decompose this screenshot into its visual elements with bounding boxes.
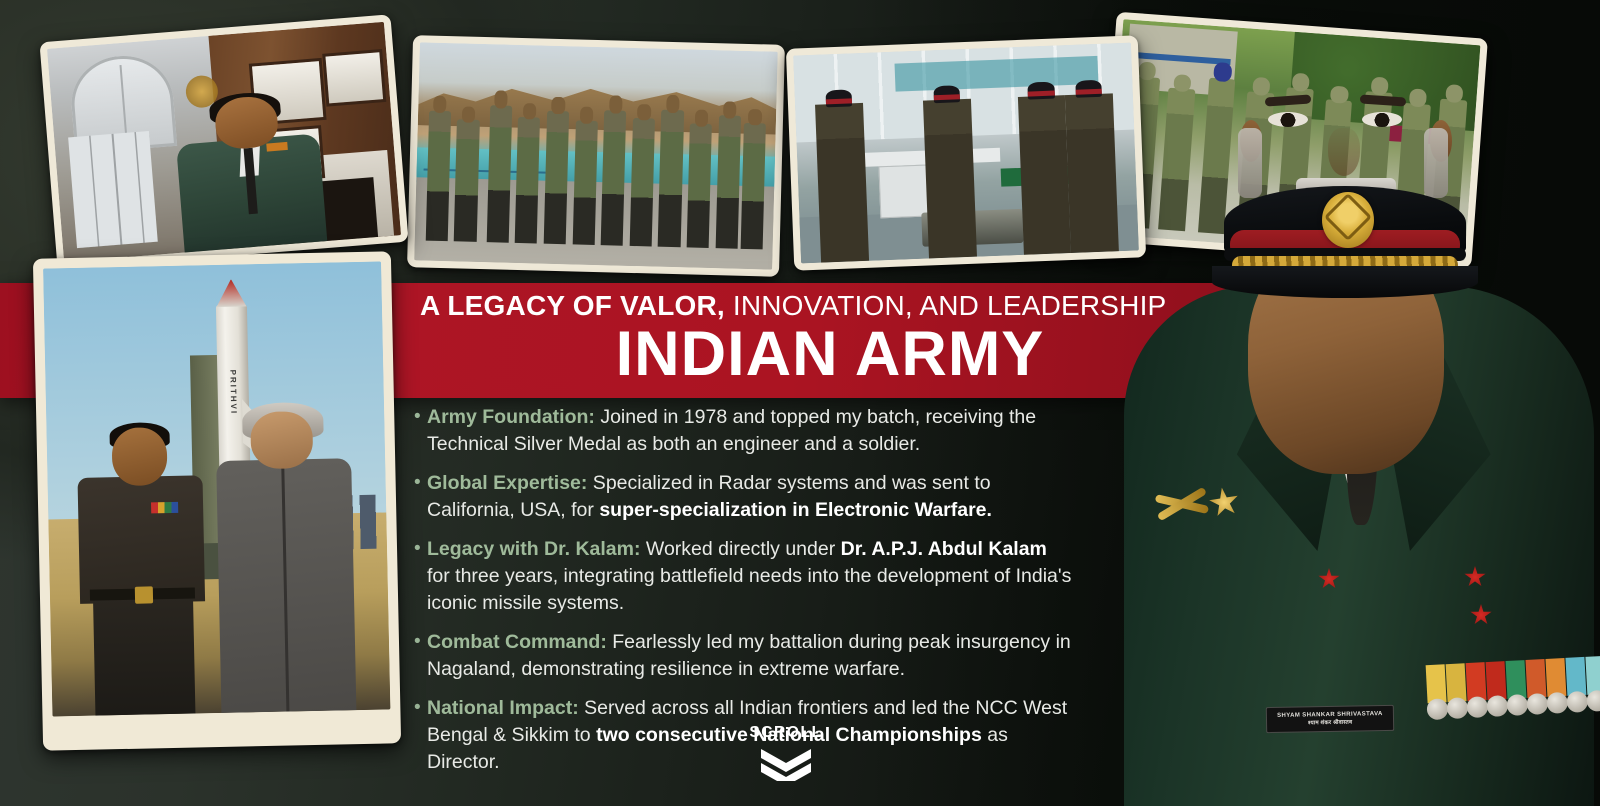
bullet-heading: Legacy with Dr. Kalam: [427,538,640,560]
list-item: Legacy with Dr. Kalam: Worked directly u… [414,536,1074,617]
bullet-bold: super-specialization in Electronic Warfa… [599,499,992,521]
list-item: Army Foundation: Joined in 1978 and topp… [414,404,1074,458]
bullet-heading: Global Expertise: [427,472,587,494]
bullet-text: Worked directly under [640,538,840,560]
bullet-bold: Dr. A.P.J. Abdul Kalam [841,538,1047,560]
photo-troop-inspection [1100,12,1488,269]
poster-stage: PRITHVI A LEGACY OF VALOR, INNOVATION, A… [0,0,1600,806]
chevron-double-down-icon [757,747,815,781]
banner-tagline: A LEGACY OF VALOR, INNOVATION, AND LEADE… [420,291,1240,322]
photo-lake-troop-group [407,35,785,277]
page-title: INDIAN ARMY [420,323,1240,386]
photo-with-dr-kalam: PRITHVI [33,251,401,750]
bullet-heading: Combat Command: [427,631,607,653]
bullet-heading: Army Foundation: [427,406,595,428]
scroll-indicator[interactable]: SCROLL [744,724,828,781]
photo-lab-inspection [786,35,1146,270]
list-item: Global Expertise: Specialized in Radar s… [414,470,1074,524]
bullet-heading: National Impact: [427,697,579,719]
scroll-label: SCROLL [744,724,828,742]
bullet-text-after: for three years, integrating battlefield… [427,565,1071,614]
photo-office-portrait [39,14,408,269]
banner-tagline-bold: A LEGACY OF VALOR, [420,290,725,321]
missile-label: PRITHVI [228,369,238,415]
banner-tagline-rest: INNOVATION, AND LEADERSHIP [725,290,1167,321]
list-item: Combat Command: Fearlessly led my battal… [414,629,1074,683]
